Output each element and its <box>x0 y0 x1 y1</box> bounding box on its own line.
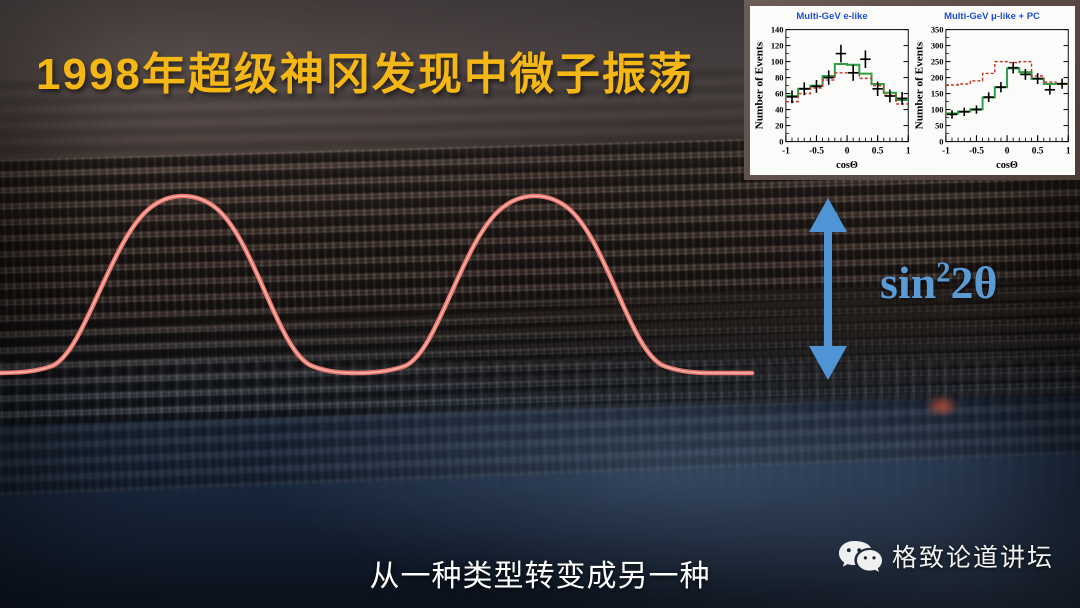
chart-title-mu-like: Multi-GeV μ-like + PC <box>912 11 1072 22</box>
svg-text:50: 50 <box>935 120 943 130</box>
svg-text:40: 40 <box>775 104 783 114</box>
svg-text:Number of Events: Number of Events <box>914 41 926 129</box>
neutrino-oscillation-sine-wave <box>0 180 790 400</box>
wechat-icon <box>838 539 882 573</box>
svg-text:0.5: 0.5 <box>872 145 884 156</box>
svg-text:0.5: 0.5 <box>1032 145 1044 156</box>
svg-text:300: 300 <box>931 40 944 50</box>
svg-text:250: 250 <box>931 56 944 66</box>
chart-panel-mu-like: Multi-GeV μ-like + PC 050100150200250300… <box>912 8 1072 175</box>
svg-text:0: 0 <box>845 145 850 156</box>
svg-text:100: 100 <box>931 104 944 114</box>
formula-exponent: 2 <box>936 258 950 289</box>
svg-text:-1: -1 <box>942 145 950 156</box>
chart-panel-e-like: Multi-GeV e-like 020406080100120140-1-0.… <box>752 8 912 175</box>
formula-angle: 2θ <box>951 257 998 308</box>
amplitude-double-arrow <box>795 196 861 382</box>
red-light-reflection <box>925 395 959 417</box>
chart-plot-e-like: 020406080100120140-1-0.500.51cosΘNumber … <box>752 8 912 175</box>
svg-text:-0.5: -0.5 <box>809 145 824 156</box>
svg-text:350: 350 <box>931 24 944 34</box>
superk-results-figure: Multi-GeV e-like 020406080100120140-1-0.… <box>744 0 1080 180</box>
svg-text:100: 100 <box>771 56 784 66</box>
chart-title-e-like: Multi-GeV e-like <box>752 11 912 22</box>
svg-text:140: 140 <box>771 24 784 34</box>
figure-canvas: Multi-GeV e-like 020406080100120140-1-0.… <box>750 6 1075 175</box>
svg-text:150: 150 <box>931 88 944 98</box>
svg-text:-1: -1 <box>782 145 790 156</box>
svg-text:cosΘ: cosΘ <box>836 160 858 171</box>
svg-text:0: 0 <box>1005 145 1010 156</box>
formula-sin: sin <box>880 257 936 308</box>
svg-text:120: 120 <box>771 40 784 50</box>
presentation-slide: 1998年超级神冈发现中微子振荡 sin22θ 从一种类型转变成另一种 格致论道… <box>0 0 1080 608</box>
svg-text:20: 20 <box>775 120 783 130</box>
watermark-label: 格致论道讲坛 <box>892 538 1054 574</box>
svg-text:1: 1 <box>1066 145 1071 156</box>
svg-text:Number of Events: Number of Events <box>754 41 766 129</box>
svg-text:-0.5: -0.5 <box>969 145 984 156</box>
svg-text:1: 1 <box>906 145 911 156</box>
svg-text:200: 200 <box>931 72 944 82</box>
chart-plot-mu-like: 050100150200250300350-1-0.500.51cosΘNumb… <box>912 8 1072 175</box>
oscillation-amplitude-formula: sin22θ <box>880 256 998 309</box>
page-title: 1998年超级神冈发现中微子振荡 <box>36 38 694 102</box>
svg-text:80: 80 <box>775 72 783 82</box>
watermark: 格致论道讲坛 <box>838 538 1054 574</box>
svg-text:cosΘ: cosΘ <box>996 160 1018 171</box>
svg-text:60: 60 <box>775 88 783 98</box>
